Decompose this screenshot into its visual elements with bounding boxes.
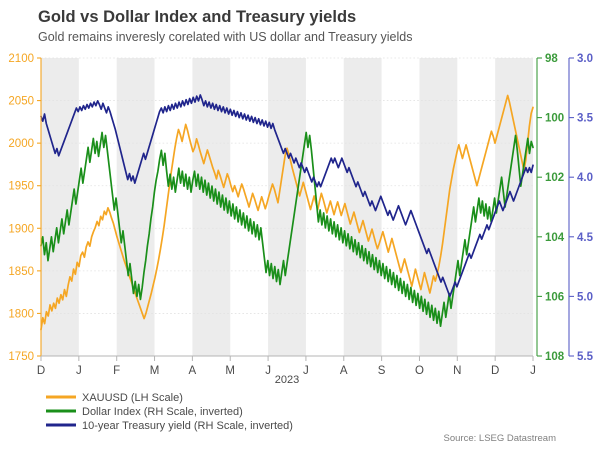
x-axis-tick-label: J [265,365,271,377]
legend-label-dollar-index: Dollar Index (RH Scale, inverted) [82,406,243,418]
x-axis-tick-label: D [491,365,499,377]
x-axis-tick-label: N [453,365,461,377]
x-axis-tick-label: A [189,365,197,377]
x-axis-tick-label: S [378,365,386,377]
green-axis-tick-label: 102 [545,172,564,184]
left-axis-tick-label: 1900 [8,223,34,235]
green-axis-tick-label: 106 [545,291,564,303]
green-axis-tick-label: 98 [545,53,558,65]
x-axis-label: 2023 [275,374,299,386]
left-axis-tick-label: 1750 [8,351,34,363]
blue-axis-tick-label: 3.0 [577,53,593,65]
left-axis-tick-label: 2050 [8,96,34,108]
left-axis-tick-label: 1950 [8,181,34,193]
blue-axis-tick-label: 4.0 [577,172,593,184]
x-axis-tick-label: O [415,365,424,377]
x-axis-tick-label: F [113,365,120,377]
green-axis-tick-label: 104 [545,232,565,244]
left-axis-tick-label: 1800 [8,308,34,320]
x-axis-tick-label: M [150,365,160,377]
blue-axis-tick-label: 5.5 [577,351,594,363]
legend-label-xauusd: XAUUSD (LH Scale) [82,392,183,404]
x-axis-tick-label: D [37,365,45,377]
x-axis-tick-label: J [76,365,82,377]
left-axis-tick-label: 2100 [8,53,34,65]
x-axis-tick-label: J [530,365,536,377]
left-axis-tick-label: 1850 [8,266,34,278]
page-subtitle: Gold remains inveresly corelated with US… [38,30,412,44]
legend-label-treasury-yield: 10-year Treasury yield (RH Scale, invert… [82,420,293,432]
month-band [117,58,155,356]
legend: XAUUSD (LH Scale) Dollar Index (RH Scale… [46,392,293,432]
blue-axis-tick-label: 3.5 [577,113,594,125]
x-axis-tick-label: A [340,365,348,377]
source-attribution: Source: LSEG Datastream [444,433,557,444]
chart-canvas: 2100205020001950190018501800175098100102… [0,0,600,450]
green-axis-tick-label: 108 [545,351,565,363]
blue-axis-tick-label: 5.0 [577,291,593,303]
blue-axis-tick-label: 4.5 [577,232,594,244]
page-title: Gold vs Dollar Index and Treasury yields [38,8,356,26]
green-axis-tick-label: 100 [545,113,564,125]
x-axis-tick-label: M [225,365,235,377]
left-axis-tick-label: 2000 [8,138,34,150]
month-band [268,58,306,356]
x-axis-tick-label: J [303,365,309,377]
